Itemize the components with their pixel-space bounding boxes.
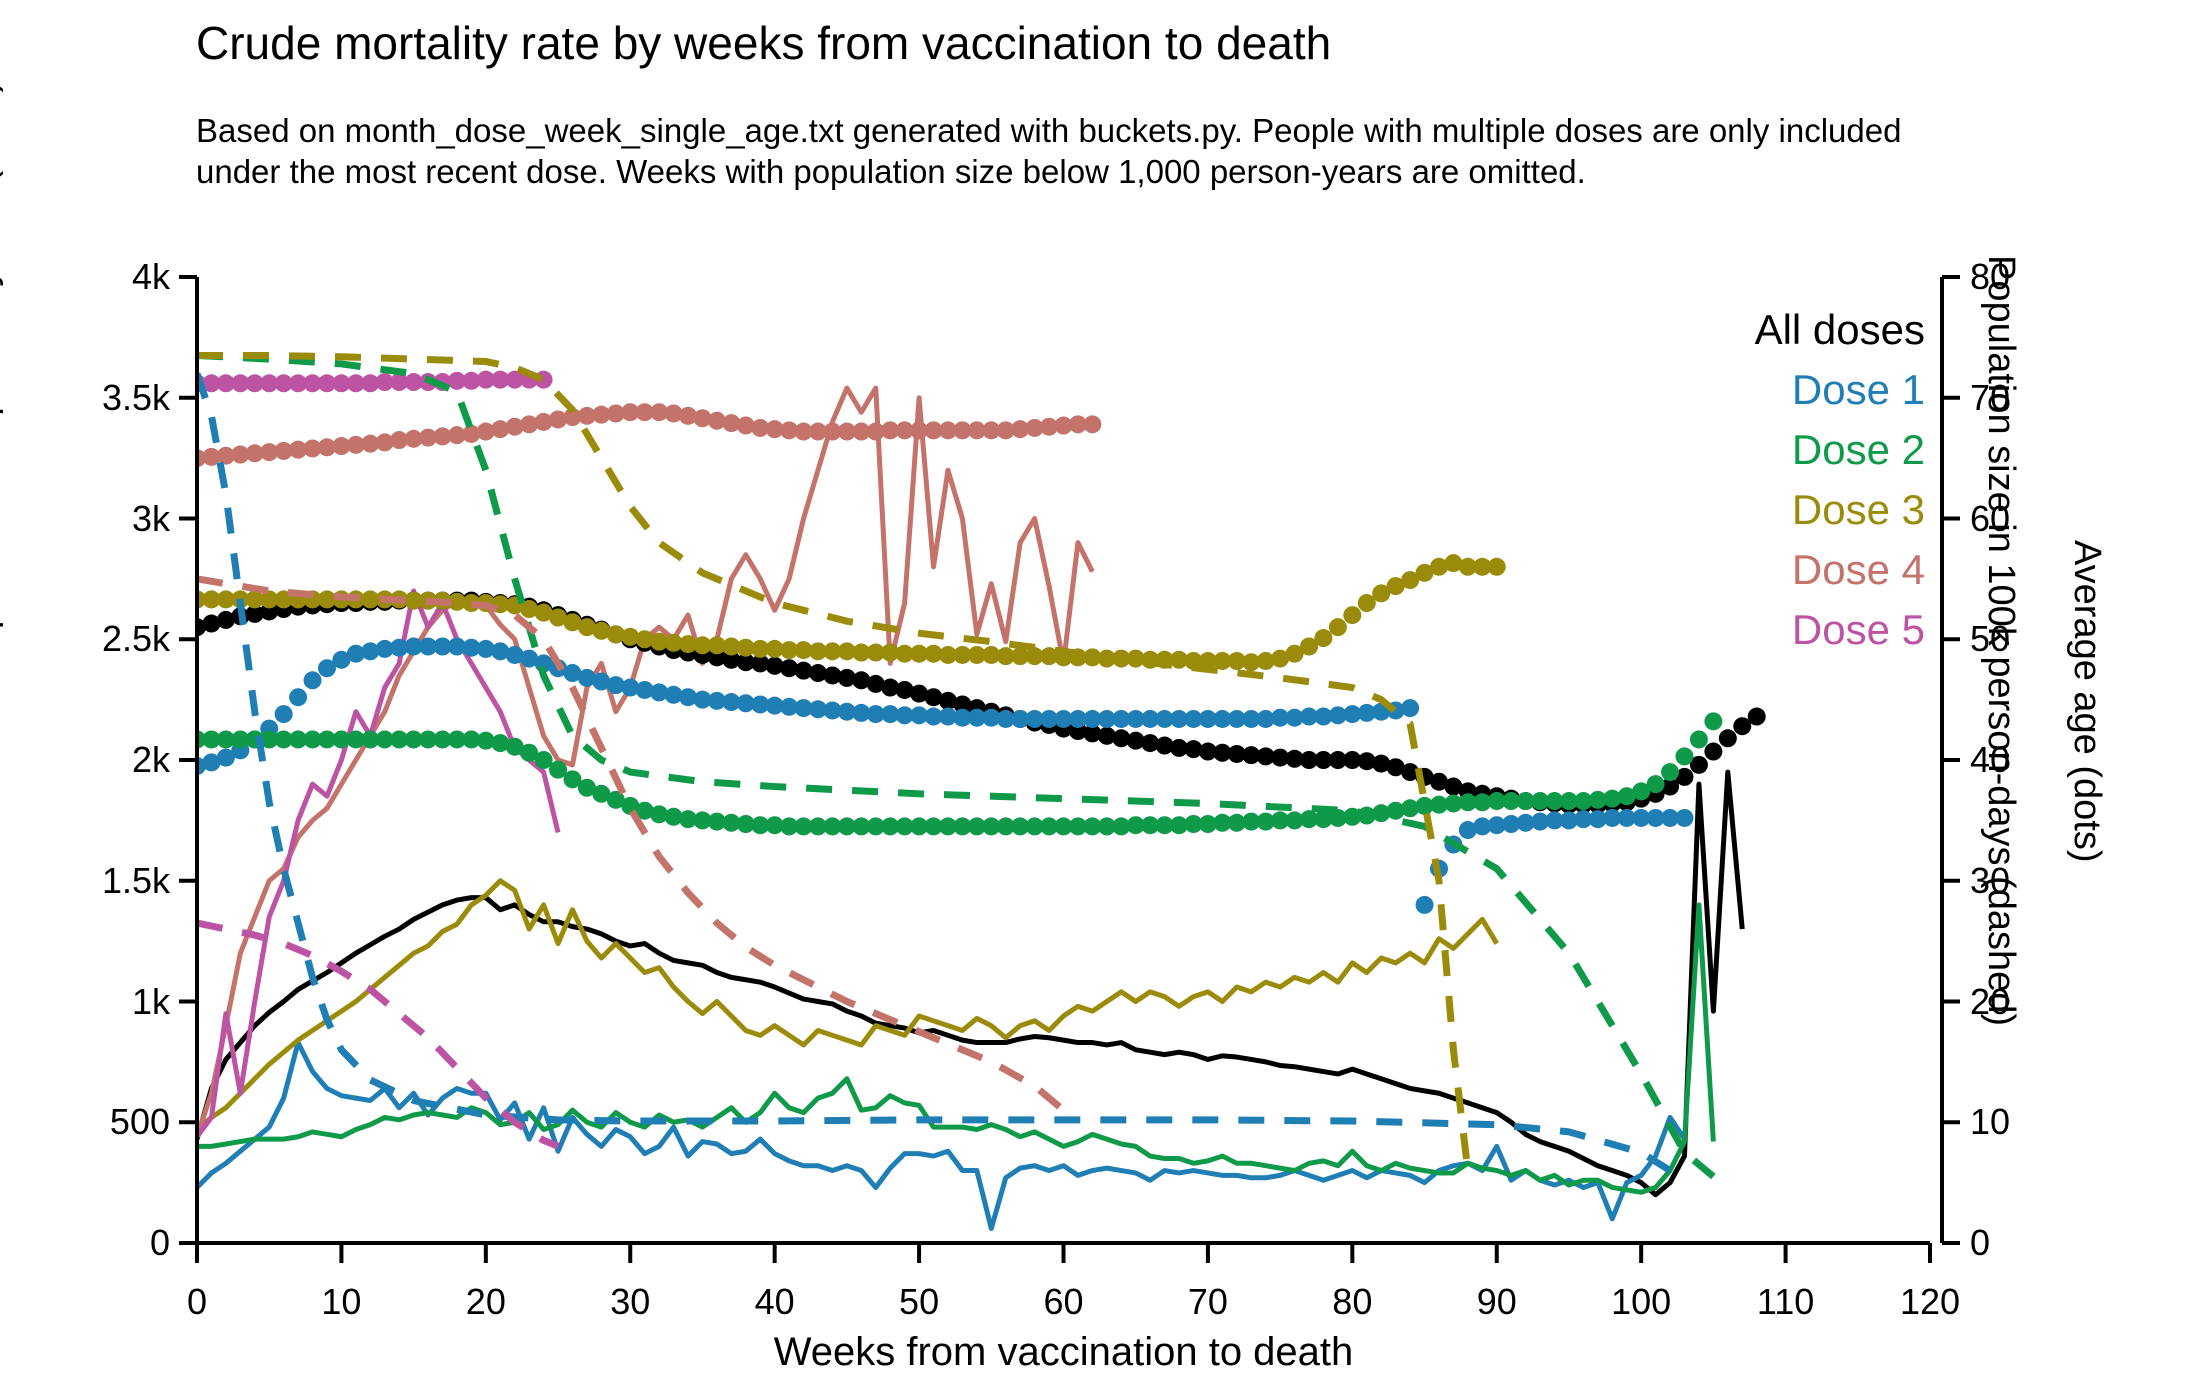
x-axis-tick-80: 80 — [1332, 1281, 1372, 1323]
x-axis-label: Weeks from vaccination to death — [197, 1330, 1930, 1375]
series-dose-2-population-size — [197, 355, 1713, 1176]
page-title: Crude mortality rate by weeks from vacci… — [196, 16, 2096, 70]
y-axis-right-tick-30: 30 — [1970, 860, 2010, 902]
y-axis-left-label: Deaths per 100,000 person-years (solid) — [0, 80, 5, 760]
series-dose-1-average-age — [197, 638, 1693, 914]
legend-item-dose-4[interactable]: Dose 4 — [1665, 540, 1925, 600]
x-axis-tick-30: 30 — [610, 1281, 650, 1323]
y-axis-tick-500: 500 — [40, 1101, 170, 1143]
series-all-doses — [197, 772, 1742, 1195]
x-axis-tick-120: 120 — [1900, 1281, 1960, 1323]
legend-item-dose-1[interactable]: Dose 1 — [1665, 360, 1925, 420]
series-dose-5-average-age — [197, 371, 553, 393]
x-axis-tick-70: 70 — [1188, 1281, 1228, 1323]
y-axis-right-tick-80: 80 — [1970, 256, 2010, 298]
y-axis-right-tick-10: 10 — [1970, 1101, 2010, 1143]
y-axis-tick-3.5k: 3.5k — [40, 377, 170, 419]
x-axis-tick-110: 110 — [1757, 1281, 1814, 1323]
chart-subtitle: Based on month_dose_week_single_age.txt … — [196, 110, 1986, 192]
y-axis-tick-2.5k: 2.5k — [40, 618, 170, 660]
x-axis-tick-0: 0 — [187, 1281, 207, 1323]
legend-item-dose-5[interactable]: Dose 5 — [1665, 600, 1925, 660]
legend-item-dose-3[interactable]: Dose 3 — [1665, 480, 1925, 540]
legend-item-all-doses[interactable]: All doses — [1665, 300, 1925, 360]
chart-legend: All doses Dose 1 Dose 2 Dose 3 Dose 4 Do… — [1665, 300, 1925, 660]
y-axis-tick-1k: 1k — [40, 981, 170, 1023]
y-axis-right-tick-70: 70 — [1970, 377, 2010, 419]
x-axis-tick-20: 20 — [466, 1281, 506, 1323]
x-axis-tick-10: 10 — [321, 1281, 361, 1323]
y-axis-tick-4k: 4k — [40, 256, 170, 298]
series-dose-5 — [197, 591, 558, 1137]
y-axis-tick-1.5k: 1.5k — [40, 860, 170, 902]
legend-item-dose-2[interactable]: Dose 2 — [1665, 420, 1925, 480]
x-axis-tick-40: 40 — [755, 1281, 795, 1323]
y-axis-right-tick-50: 50 — [1970, 618, 2010, 660]
y-axis-right-tick-0: 0 — [1970, 1222, 1990, 1264]
x-axis-tick-90: 90 — [1477, 1281, 1517, 1323]
x-axis-tick-50: 50 — [899, 1281, 939, 1323]
y-axis-tick-0: 0 — [40, 1222, 170, 1264]
y-axis-right-tick-40: 40 — [1970, 739, 2010, 781]
y-axis-tick-3k: 3k — [40, 498, 170, 540]
y-axis-right-tick-20: 20 — [1970, 981, 2010, 1023]
x-axis-tick-100: 100 — [1611, 1281, 1671, 1323]
chart-page: Crude mortality rate by weeks from vacci… — [0, 0, 2200, 1400]
x-axis-tick-60: 60 — [1043, 1281, 1083, 1323]
y-axis-right-label-age: Average age (dots) — [2065, 540, 2108, 863]
y-axis-tick-2k: 2k — [40, 739, 170, 781]
series-dose-4-average-age — [197, 403, 1101, 467]
series-dose-1-population-size — [197, 374, 1670, 1171]
y-axis-right-tick-60: 60 — [1970, 498, 2010, 540]
